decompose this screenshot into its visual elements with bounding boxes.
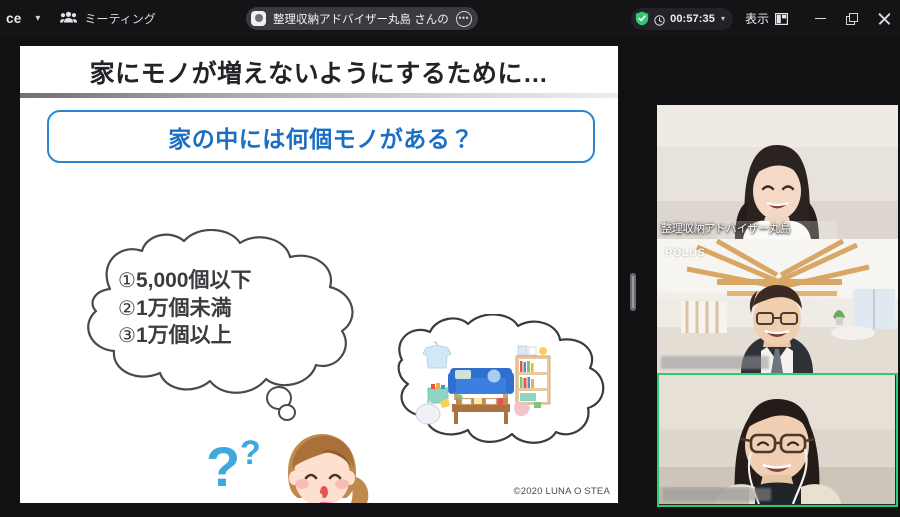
- copyright-label: ©2020 LUNA O STEA: [514, 486, 610, 497]
- title-bar-left: ce ▾ ミーティング: [0, 0, 156, 37]
- video-tile-participant-3-active[interactable]: [657, 373, 898, 507]
- video-feed: [657, 239, 898, 373]
- option-number: ②: [118, 298, 136, 320]
- restore-button[interactable]: [836, 0, 868, 37]
- chevron-down-icon[interactable]: ▾: [21, 14, 52, 24]
- close-icon: [878, 13, 890, 25]
- list-item: ②1万個未満: [118, 295, 252, 323]
- option-number: ①: [118, 270, 136, 292]
- thought-bubble-small-2: [278, 404, 296, 421]
- meeting-tab-label: ミーティング: [84, 10, 155, 27]
- avatar-icon: [251, 11, 266, 26]
- thought-bubble-options: ①5,000個以下 ②1万個未満 ③1万個以上: [58, 229, 378, 399]
- svg-text:?: ?: [206, 435, 240, 498]
- shield-check-icon: [635, 11, 649, 26]
- option-label: 1万個以上: [136, 324, 232, 347]
- close-button[interactable]: [868, 0, 900, 37]
- title-divider: [20, 93, 620, 98]
- option-number: ③: [118, 325, 136, 347]
- question-box: 家の中には何個モノがある？: [47, 110, 595, 163]
- more-options-icon[interactable]: •••: [456, 11, 472, 27]
- timer-value: 00:57:35: [670, 13, 715, 25]
- meeting-window: ce ▾ ミーティング 整理収納アド: [0, 0, 900, 517]
- meeting-tab[interactable]: ミーティング: [60, 10, 155, 28]
- room-illustration: [410, 336, 562, 428]
- video-tile-presenter[interactable]: 整理収納アドバイザー丸島: [657, 105, 898, 239]
- minimize-button[interactable]: [804, 0, 836, 37]
- meeting-timer[interactable]: 00:57:35 ▾: [631, 8, 733, 30]
- option-label: 1万個未満: [136, 297, 232, 320]
- title-bar-right: 00:57:35 ▾ 表示: [631, 0, 900, 37]
- slide-title: 家にモノが増えないようにするために…: [20, 54, 618, 90]
- thought-bubble-room: [358, 314, 610, 444]
- panel-resize-handle[interactable]: [630, 273, 636, 311]
- participant-name-blurred: [663, 488, 771, 501]
- presenter-pill-label: 整理収納アドバイザー丸島 さんの: [273, 11, 449, 27]
- presenter-pill[interactable]: 整理収納アドバイザー丸島 さんの •••: [246, 7, 478, 30]
- participant-name-label: 整理収納アドバイザー丸島: [661, 220, 791, 236]
- people-icon: [60, 10, 77, 28]
- thinking-woman-illustration: [260, 424, 380, 505]
- meeting-stage: 家にモノが増えないようにするために… 家の中には何個モノがある？ ①5,000個…: [0, 37, 900, 517]
- question-box-label: 家の中には何個モノがある？: [168, 120, 474, 154]
- shared-slide[interactable]: 家にモノが増えないようにするために… 家の中には何個モノがある？ ①5,000個…: [18, 44, 620, 505]
- list-item: ①5,000個以下: [118, 267, 252, 295]
- video-rail: 整理収納アドバイザー丸島: [657, 105, 898, 507]
- clock-icon: [654, 13, 665, 24]
- view-layout-button[interactable]: 表示: [745, 10, 788, 27]
- list-item: ③1万個以上: [118, 322, 252, 350]
- layout-icon: [775, 13, 788, 25]
- options-list: ①5,000個以下 ②1万個未満 ③1万個以上: [118, 267, 252, 350]
- video-feed: [659, 375, 895, 504]
- title-bar: ce ▾ ミーティング 整理収納アド: [0, 0, 900, 37]
- chevron-down-icon[interactable]: ▾: [721, 14, 725, 23]
- video-feed: [657, 105, 898, 239]
- view-button-label: 表示: [745, 10, 769, 27]
- svg-text:?: ?: [240, 434, 261, 472]
- polus-watermark: POLUS: [665, 247, 705, 259]
- participant-name-blurred: [661, 356, 769, 369]
- option-label: 5,000個以下: [136, 269, 252, 292]
- minimize-icon: [815, 18, 826, 20]
- restore-icon: [846, 13, 858, 25]
- video-tile-participant-2[interactable]: POLUS: [657, 239, 898, 373]
- app-name-label: ce: [2, 11, 21, 26]
